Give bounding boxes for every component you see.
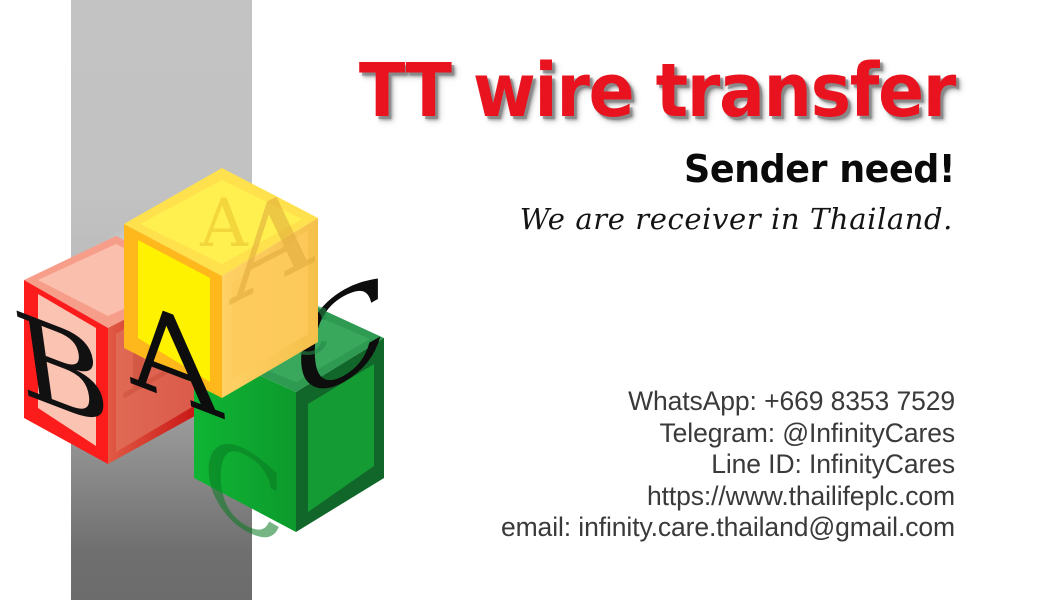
poster-canvas: B B C C C <box>0 0 1063 600</box>
svg-text:A: A <box>199 185 249 262</box>
text-column: TT wire transfer Sender need! We are rec… <box>260 0 955 600</box>
contact-line-lineid[interactable]: Line ID: InfinityCares <box>260 449 955 481</box>
page-title: TT wire transfer <box>316 54 955 128</box>
tagline-handwriting: We are receiver in Thailand. <box>258 204 953 236</box>
contact-block: WhatsApp: +669 8353 7529 Telegram: @Infi… <box>260 386 955 544</box>
contact-line-telegram[interactable]: Telegram: @InfinityCares <box>260 418 955 450</box>
subtitle-sender-need: Sender need! <box>288 150 955 188</box>
contact-line-website[interactable]: https://www.thailifeplc.com <box>260 481 955 513</box>
contact-line-email[interactable]: email: infinity.care.thailand@gmail.com <box>260 512 955 544</box>
contact-line-whatsapp[interactable]: WhatsApp: +669 8353 7529 <box>260 386 955 418</box>
